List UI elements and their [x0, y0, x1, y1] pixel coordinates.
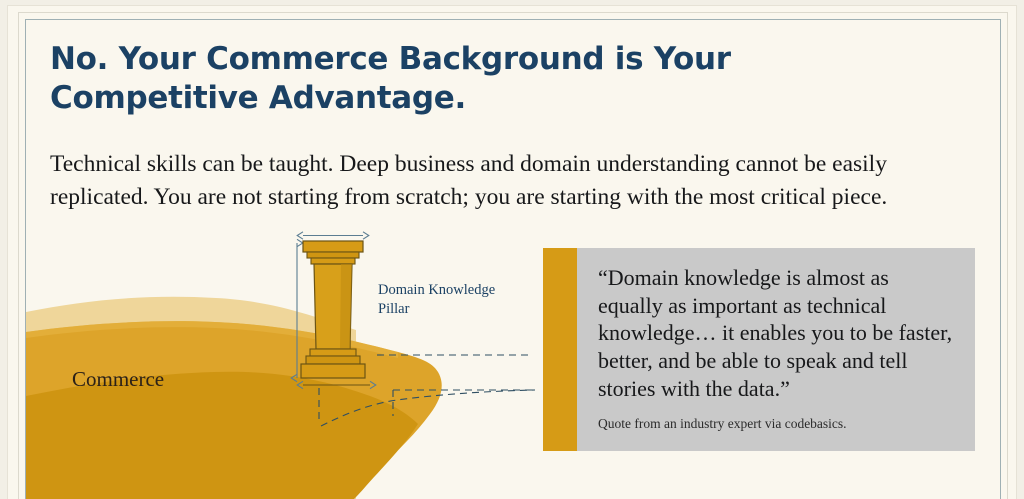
- pillar-base-plinth: [301, 364, 365, 378]
- commerce-ground-label: Commerce: [72, 367, 164, 392]
- quote-card: “Domain knowledge is almost as equally a…: [543, 248, 975, 451]
- quote-text: “Domain knowledge is almost as equally a…: [598, 264, 957, 403]
- slide-canvas: No. Your Commerce Background is Your Com…: [0, 0, 1024, 499]
- quote-body: “Domain knowledge is almost as equally a…: [577, 248, 975, 451]
- pillar-base-tier-2: [306, 356, 360, 364]
- page-title: No. Your Commerce Background is Your Com…: [50, 40, 810, 119]
- pillar-capital-tier-1: [307, 252, 359, 258]
- quote-source: Quote from an industry expert via codeba…: [598, 416, 957, 432]
- body-paragraph: Technical skills can be taught. Deep bus…: [50, 148, 935, 215]
- pillar-capital-abacus: [303, 241, 363, 252]
- pillar-shaft-shading: [340, 264, 352, 349]
- pillar-annotation-label: Domain Knowledge Pillar: [378, 281, 518, 320]
- pillar-capital-tier-2: [311, 258, 355, 264]
- pillar-base-tier-1: [310, 349, 356, 356]
- quote-accent-bar: [543, 248, 577, 451]
